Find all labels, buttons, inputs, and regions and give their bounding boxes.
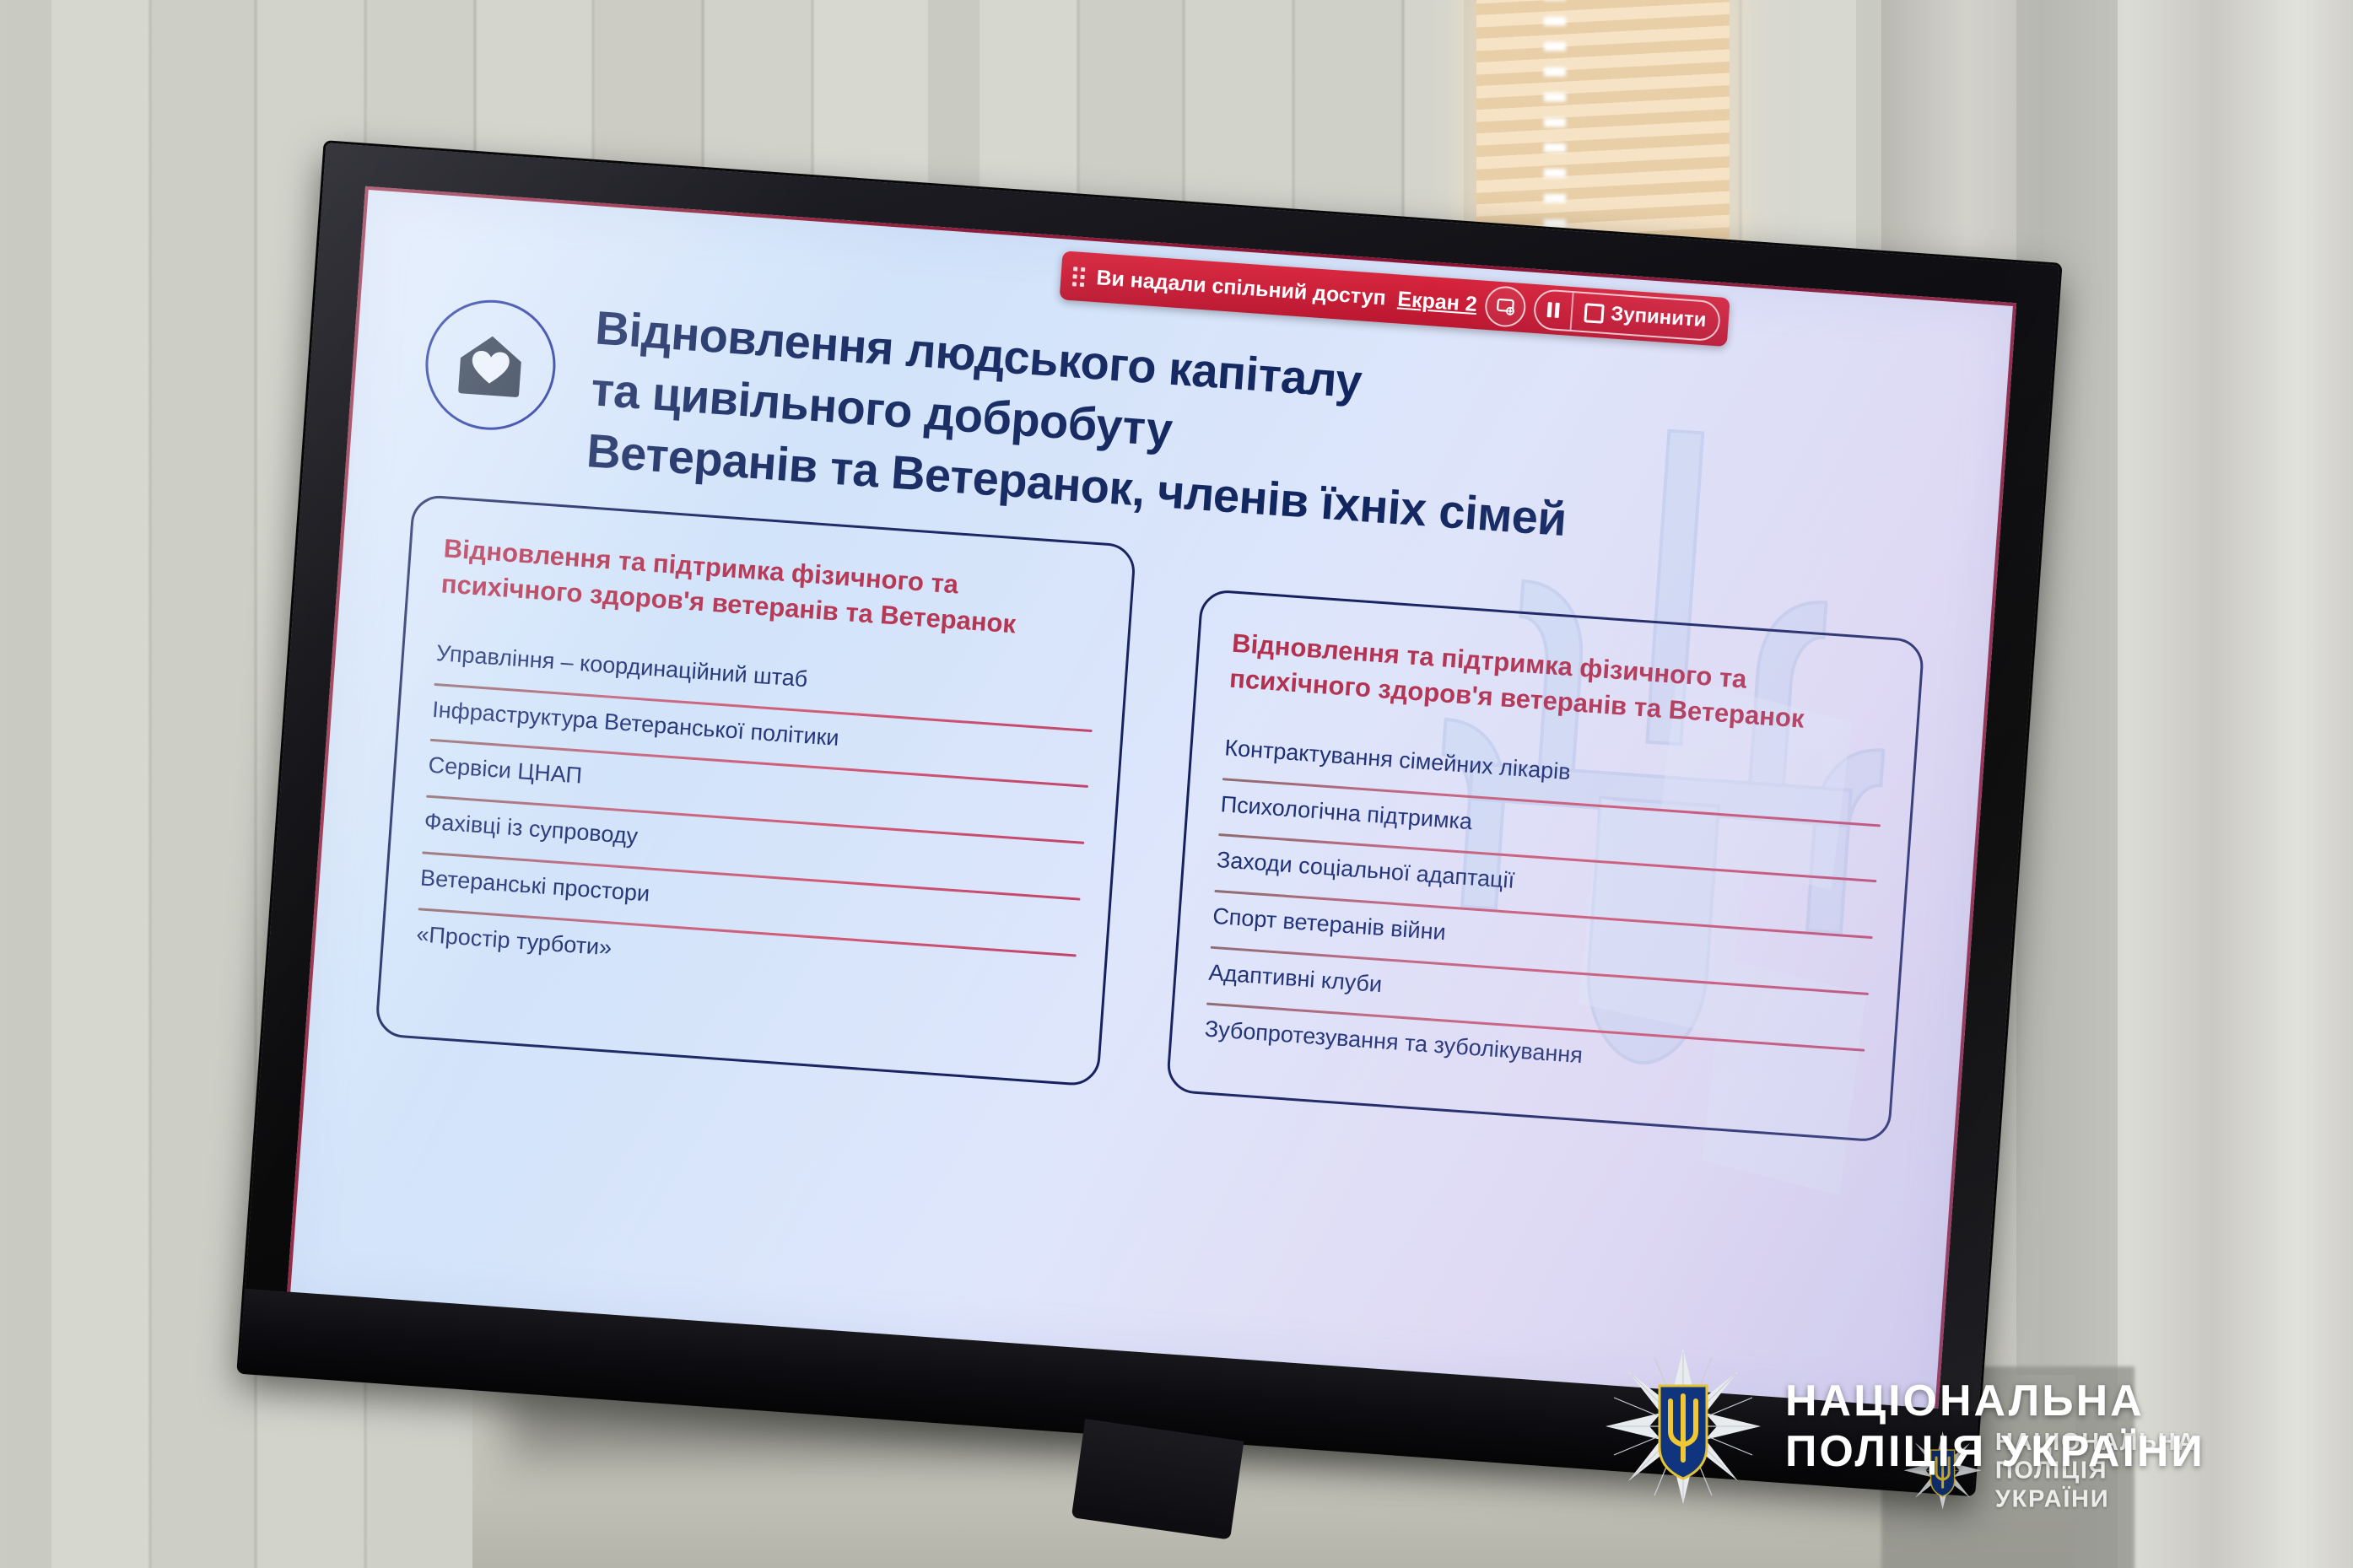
slide-title: Відновлення людського капіталу та цивіль… xyxy=(585,297,1577,550)
tv-wall-mount xyxy=(1071,1419,1244,1539)
share-controls-group[interactable]: Зупинити xyxy=(1533,288,1721,342)
panel-right-heading: Відновлення та підтримка фізичного та пс… xyxy=(1228,626,1888,742)
panel-left-heading: Відновлення та підтримка фізичного та пс… xyxy=(440,531,1100,647)
presentation-slide: Відновлення людського капіталу та цивіль… xyxy=(287,186,2016,1414)
screen-share-icon[interactable] xyxy=(1484,285,1527,328)
pause-share-button[interactable] xyxy=(1535,290,1573,330)
pause-icon xyxy=(1547,302,1560,318)
shared-screen-link[interactable]: Екран 2 xyxy=(1397,287,1478,317)
stop-share-button[interactable]: Зупинити xyxy=(1570,293,1719,340)
panel-right: Відновлення та підтримка фізичного та пс… xyxy=(1166,589,1925,1143)
panel-left: Відновлення та підтримка фізичного та пс… xyxy=(375,494,1136,1087)
house-with-heart-icon xyxy=(421,295,559,434)
drag-handle-icon[interactable] xyxy=(1072,267,1086,287)
stop-share-label: Зупинити xyxy=(1610,302,1707,332)
stop-square-icon xyxy=(1584,303,1606,324)
panel-group: Відновлення та підтримка фізичного та пс… xyxy=(375,494,1928,1144)
screenshot-root: Відновлення людського капіталу та цивіль… xyxy=(0,0,2353,1568)
television: Відновлення людського капіталу та цивіль… xyxy=(214,101,2113,1568)
share-status-text: Ви надали спільний доступ xyxy=(1096,266,1387,310)
tv-screen: Відновлення людського капіталу та цивіль… xyxy=(287,186,2016,1414)
